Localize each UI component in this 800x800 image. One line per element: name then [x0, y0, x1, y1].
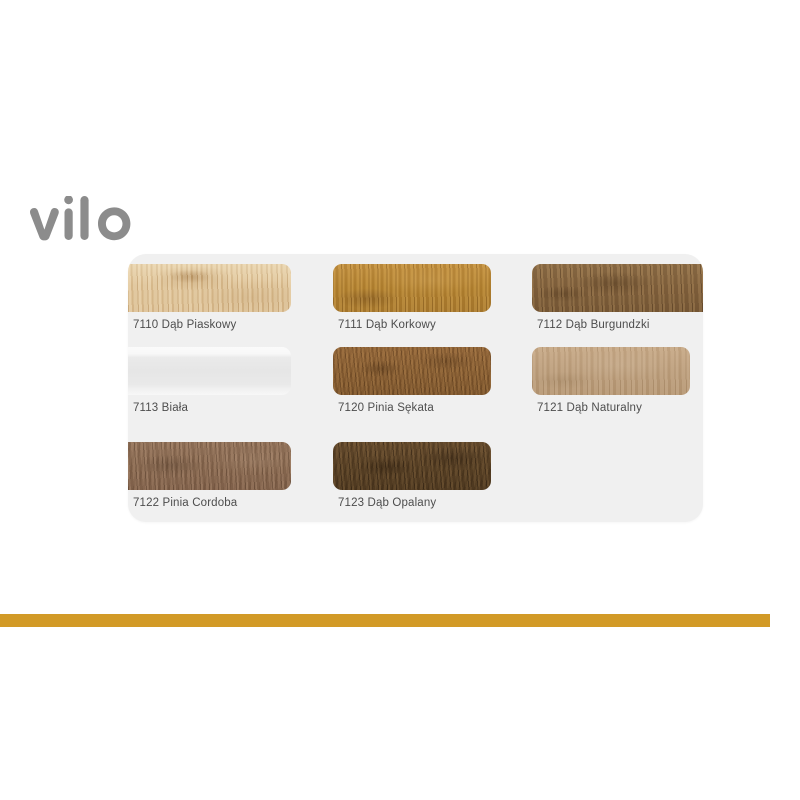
swatch-label-7111: 7111 Dąb Korkowy	[338, 318, 436, 333]
swatch-label-7123: 7123 Dąb Opalany	[338, 496, 436, 511]
swatch-chip-7122[interactable]	[128, 442, 291, 490]
swatch-chip-7112[interactable]	[532, 264, 703, 312]
swatch-label-7122: 7122 Pinia Cordoba	[133, 496, 237, 511]
swatch-label-7121: 7121 Dąb Naturalny	[537, 401, 642, 416]
colour-swatch-card: 7110 Dąb Piaskowy 7111 Dąb Korkowy 7112 …	[128, 254, 703, 522]
vilo-wordmark-icon	[26, 196, 156, 252]
swatch-grid: 7110 Dąb Piaskowy 7111 Dąb Korkowy 7112 …	[128, 254, 703, 522]
swatch-chip-7110[interactable]	[128, 264, 291, 312]
swatch-label-7120: 7120 Pinia Sękata	[338, 401, 434, 416]
swatch-chip-7120[interactable]	[333, 347, 491, 395]
footer-accent-bar	[0, 614, 770, 627]
swatch-chip-7111[interactable]	[333, 264, 491, 312]
swatch-chip-7123[interactable]	[333, 442, 491, 490]
swatch-chip-7121[interactable]	[532, 347, 690, 395]
vilo-logo	[26, 196, 156, 252]
swatch-label-7110: 7110 Dąb Piaskowy	[133, 318, 236, 333]
swatch-chip-7113[interactable]	[128, 347, 291, 395]
swatch-label-7112: 7112 Dąb Burgundzki	[537, 318, 650, 333]
swatch-label-7113: 7113 Biała	[133, 401, 188, 416]
